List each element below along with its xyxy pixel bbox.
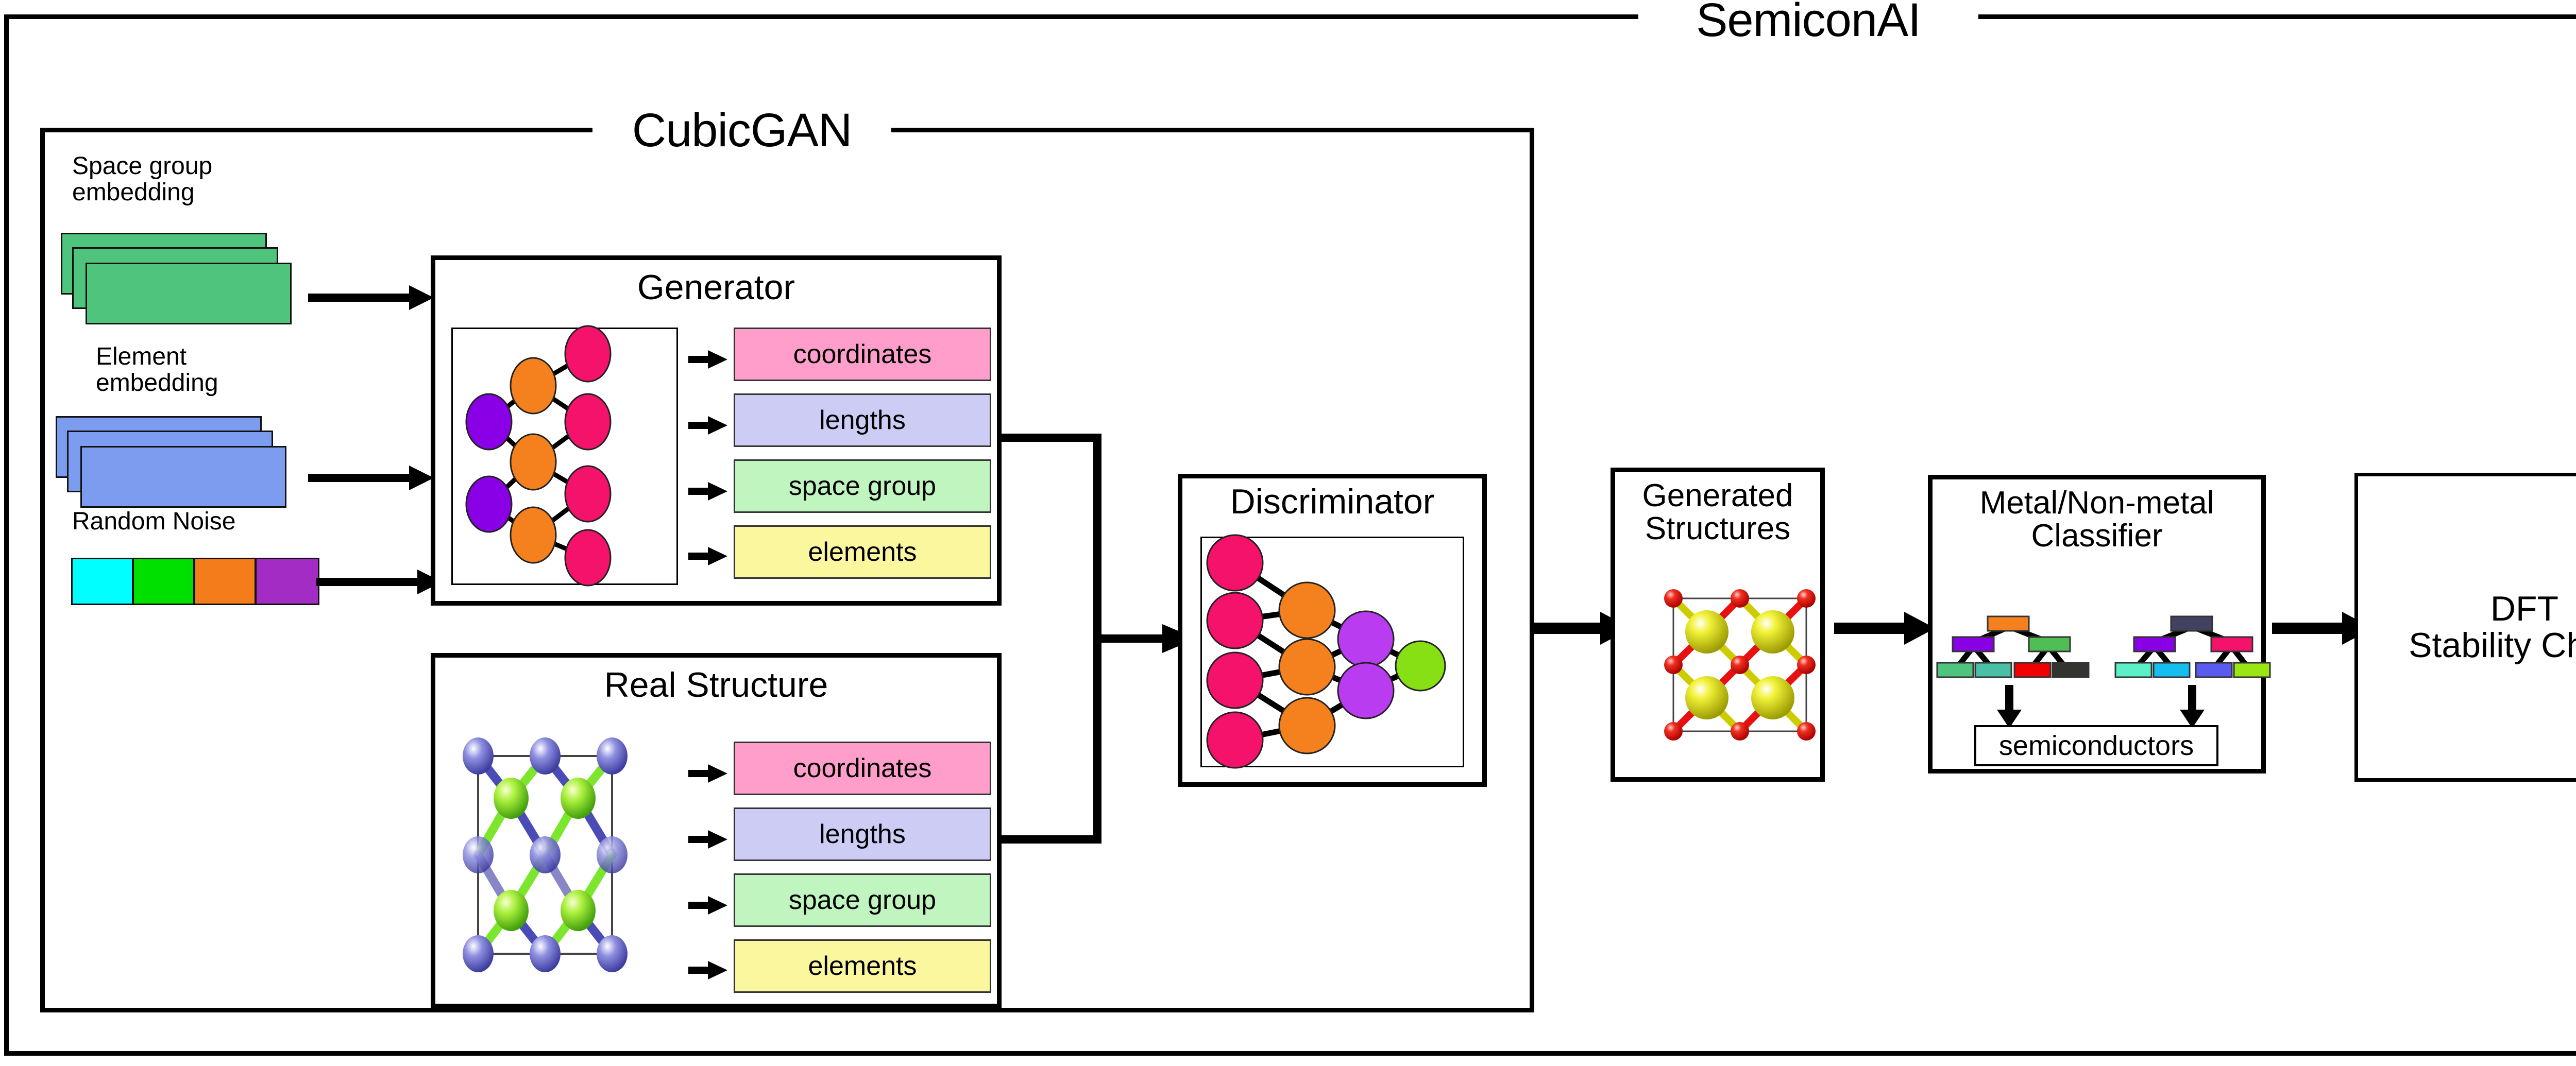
- generator-output-coordinates: coordinates: [734, 328, 991, 381]
- dft-stability-check-box: DFT Stability Check: [2354, 473, 2576, 782]
- element-embedding-line1: Element: [96, 343, 187, 370]
- space-group-embedding-line1: Space group: [72, 152, 212, 180]
- discriminator-title: Discriminator: [1182, 484, 1482, 520]
- generated-structures-crystal: [1663, 588, 1818, 743]
- noise-cell-1: [71, 558, 133, 605]
- discriminator-network-svg: [1202, 538, 1463, 766]
- dft-title-line1: DFT: [2490, 589, 2558, 628]
- semiconai-title: SemiconAI: [1638, 0, 1978, 48]
- noise-cell-4: [255, 558, 319, 605]
- element-card-3: [80, 446, 286, 508]
- generator-title: Generator: [435, 269, 997, 306]
- space-group-embedding-label: Space group embedding: [72, 153, 309, 206]
- generator-output-elements: elements: [734, 525, 991, 579]
- real-structure-output-coordinates-label: coordinates: [793, 755, 932, 782]
- random-noise-strip: [71, 558, 319, 605]
- real-structure-output-elements: elements: [734, 939, 991, 993]
- generator-output-coordinates-label: coordinates: [793, 341, 932, 368]
- generator-output-lengths-label: lengths: [819, 407, 906, 434]
- classifier-output-label: semiconductors: [1999, 730, 2194, 762]
- random-noise-label: Random Noise: [72, 509, 330, 535]
- real-structure-outputs: coordinates lengths space group elements: [734, 742, 991, 999]
- generator-outputs: coordinates lengths space group elements: [734, 328, 991, 585]
- arrow-noise-to-generator: [316, 566, 445, 597]
- noise-cell-2: [132, 558, 195, 605]
- dft-title-line2: Stability Check: [2409, 626, 2576, 665]
- generated-structures-title: Generated Structures: [1615, 479, 1820, 546]
- arrow-element-to-generator: [308, 462, 437, 493]
- arrow-spacegroup-to-generator: [308, 282, 437, 313]
- real-structure-output-elements-label: elements: [808, 953, 917, 979]
- space-group-embedding-line2: embedding: [72, 179, 195, 206]
- real-structure-output-arrows: [685, 742, 732, 999]
- arrow-generated-to-classifier: [1834, 608, 1937, 649]
- real-structure-output-lengths-label: lengths: [819, 821, 906, 848]
- classifier-output-box: semiconductors: [1974, 725, 2218, 766]
- generated-structures-title-line1: Generated: [1642, 478, 1793, 513]
- random-noise-text: Random Noise: [72, 508, 235, 535]
- generator-output-space-group-label: space group: [789, 473, 936, 500]
- cubicgan-title: CubicGAN: [592, 102, 891, 159]
- generator-output-arrows: [685, 328, 732, 585]
- generated-structures-title-line2: Structures: [1645, 511, 1791, 546]
- generator-output-lengths: lengths: [734, 393, 991, 447]
- real-structure-output-lengths: lengths: [734, 807, 991, 861]
- classifier-down-arrows: [1936, 685, 2261, 728]
- classifier-title-line1: Metal/Non-metal: [1980, 485, 2214, 521]
- element-embedding-label: Element embedding: [96, 344, 333, 397]
- discriminator-network-panel: [1200, 537, 1464, 767]
- diagram-canvas: SemiconAI CubicGAN Space group embedding…: [0, 0, 2576, 1066]
- classifier-title-line2: Classifier: [2031, 518, 2163, 554]
- classifier-title: Metal/Non-metal Classifier: [1933, 487, 2261, 553]
- real-structure-output-space-group-label: space group: [789, 887, 936, 914]
- noise-cell-3: [194, 558, 256, 605]
- dft-title: DFT Stability Check: [2409, 591, 2576, 663]
- generator-output-elements-label: elements: [808, 539, 917, 565]
- real-structure-crystal: [453, 731, 659, 989]
- real-structure-title: Real Structure: [435, 667, 997, 703]
- generator-network-panel: [451, 328, 678, 585]
- element-embedding-cards: [56, 416, 324, 509]
- real-structure-output-space-group: space group: [734, 873, 991, 927]
- element-embedding-line2: embedding: [96, 369, 218, 397]
- space-group-embedding-cards: [61, 233, 329, 325]
- real-structure-output-coordinates: coordinates: [734, 742, 991, 795]
- classifier-decision-trees: [1936, 605, 2261, 690]
- generator-network-svg: [453, 329, 676, 583]
- space-group-card-3: [86, 263, 292, 324]
- generator-output-space-group: space group: [734, 459, 991, 513]
